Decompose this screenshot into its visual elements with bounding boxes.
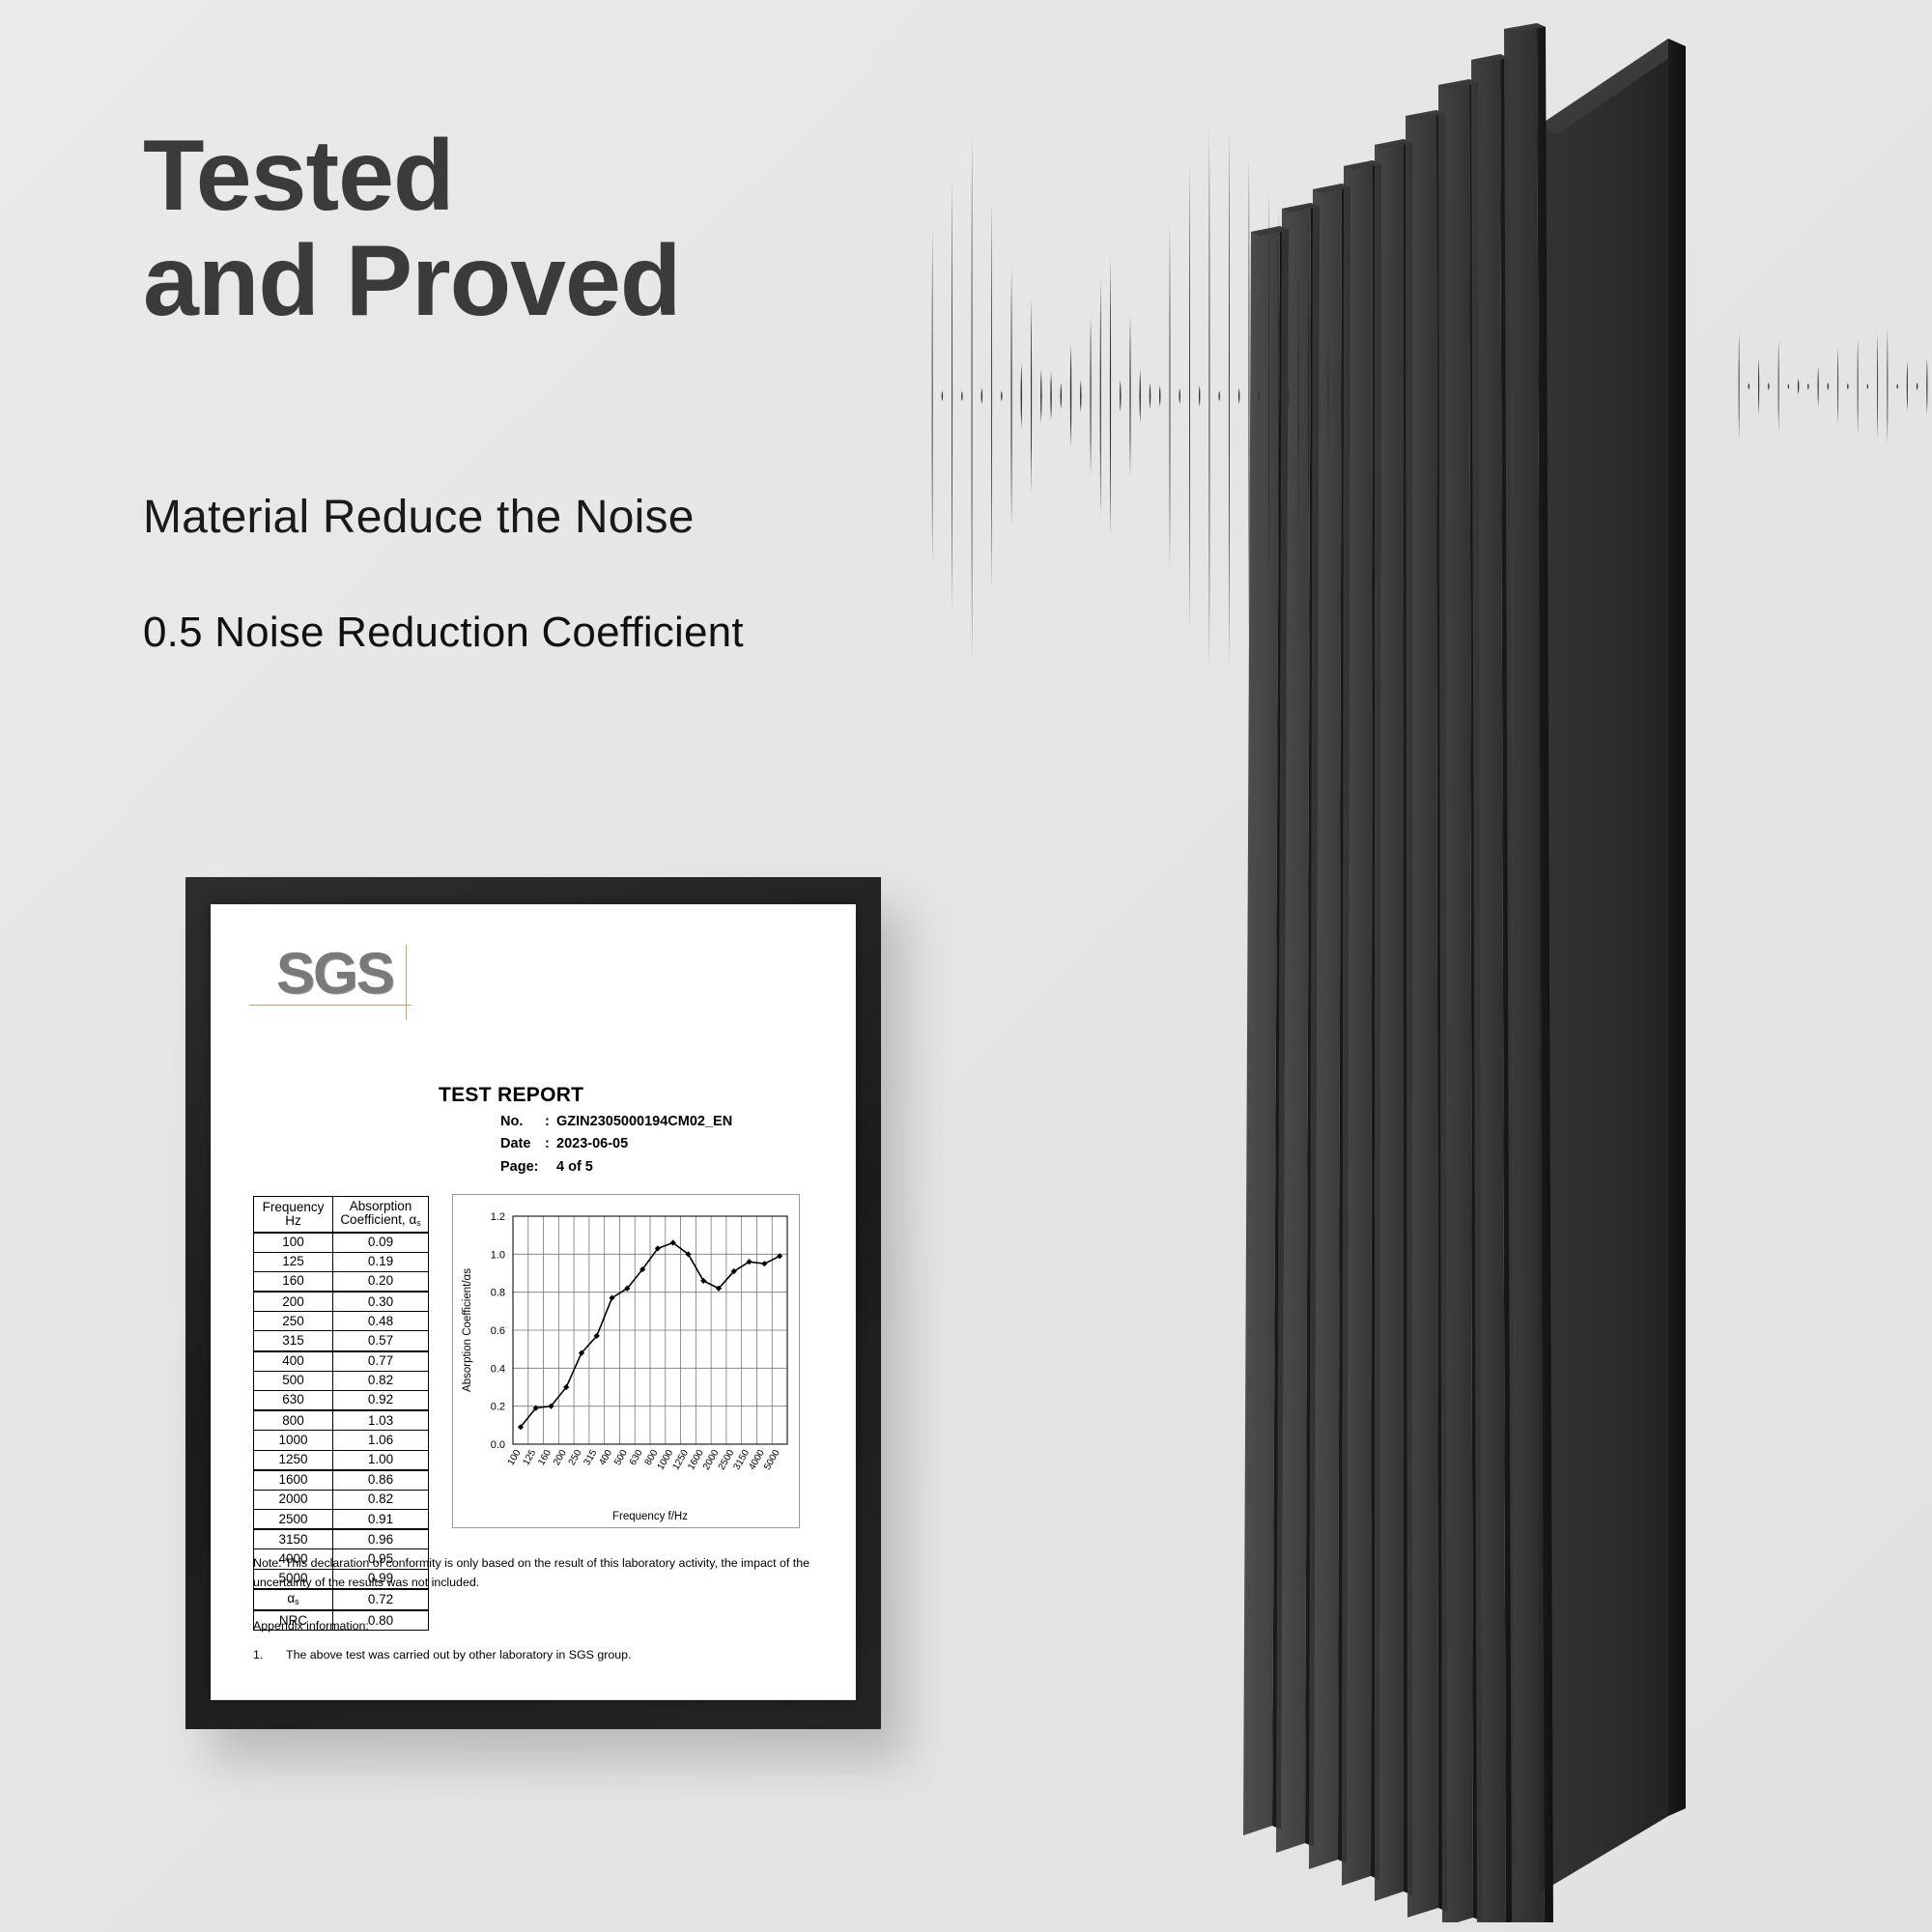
report-meta-value: GZIN2305000194CM02_EN bbox=[556, 1114, 732, 1129]
appendix-item-text: The above test was carried out by other … bbox=[286, 1648, 631, 1662]
table-cell-absorption: 0.09 bbox=[333, 1233, 429, 1253]
sound-wave-bar bbox=[981, 388, 983, 405]
table-row: 1250.19 bbox=[254, 1252, 429, 1271]
chart-ytick-label: 0.8 bbox=[491, 1288, 505, 1299]
table-row: 6300.92 bbox=[254, 1390, 429, 1410]
poster-canvas: Tested and Proved Material Reduce the No… bbox=[0, 0, 1932, 1932]
report-meta-row: Page:4 of 5 bbox=[500, 1156, 732, 1179]
slat-face bbox=[1342, 160, 1373, 1886]
chart-xtick-label: 160 bbox=[536, 1448, 554, 1467]
sound-wave-bar bbox=[1010, 267, 1011, 526]
report-title: TEST REPORT bbox=[439, 1084, 583, 1107]
table-cell-absorption: 0.96 bbox=[333, 1529, 429, 1549]
chart-yaxis-title: Absorption Coefficient/αs bbox=[462, 1268, 473, 1392]
sound-wave-bar bbox=[1040, 369, 1042, 423]
table-cell-absorption: 0.77 bbox=[333, 1351, 429, 1372]
table-cell-absorption: 0.82 bbox=[333, 1490, 429, 1509]
slat-panel-backboard bbox=[1539, 39, 1668, 1893]
chart-ytick-label: 0.4 bbox=[491, 1363, 505, 1375]
absorption-chart: 0.00.20.40.60.81.01.21001251602002503154… bbox=[452, 1194, 800, 1528]
chart-ytick-label: 1.0 bbox=[491, 1249, 505, 1261]
table-cell-absorption: 0.91 bbox=[333, 1510, 429, 1530]
sound-wave-bar bbox=[1208, 128, 1209, 664]
sound-wave-bar bbox=[961, 390, 963, 401]
report-meta-row: Date:2023-06-05 bbox=[500, 1133, 732, 1155]
report-meta-label: Date bbox=[500, 1133, 545, 1155]
report-meta-row: No.:GZIN2305000194CM02_EN bbox=[500, 1111, 732, 1133]
sound-wave-bar bbox=[942, 390, 944, 401]
sound-wave-bar bbox=[1179, 388, 1180, 405]
sound-wave-bar bbox=[1229, 126, 1230, 667]
table-row: 31500.96 bbox=[254, 1529, 429, 1549]
chart-xtick-label: 100 bbox=[506, 1448, 524, 1467]
slat-panel-backboard-side bbox=[1668, 39, 1686, 1816]
table-cell-absorption: 0.19 bbox=[333, 1252, 429, 1271]
sound-wave-bar bbox=[1150, 383, 1151, 410]
sound-wave-bar bbox=[991, 201, 992, 590]
sound-wave-bar bbox=[1120, 380, 1122, 412]
appendix-title: Appendix information: bbox=[253, 1617, 842, 1636]
chart-xtick-label: 315 bbox=[582, 1448, 600, 1467]
table-header-frequency: Frequency Hz bbox=[254, 1197, 333, 1233]
chart-data-point bbox=[700, 1278, 706, 1284]
sound-wave-bar bbox=[1050, 372, 1052, 420]
table-row: 16000.86 bbox=[254, 1470, 429, 1491]
sound-wave-bar bbox=[1129, 315, 1130, 477]
appendix-block: Appendix information: 1.The above test w… bbox=[253, 1617, 842, 1665]
sound-wave-bar bbox=[1189, 163, 1190, 629]
table-row: 20000.82 bbox=[254, 1490, 429, 1509]
sgs-logo-text: SGS bbox=[276, 945, 421, 1003]
report-meta-separator: : bbox=[545, 1133, 556, 1155]
nrc-claim-text: 0.5 Noise Reduction Coefficient bbox=[143, 609, 744, 657]
certificate-page: SGS TEST REPORT No.:GZIN2305000194CM02_E… bbox=[211, 904, 856, 1700]
sgs-logo-rule-vertical bbox=[406, 945, 407, 1020]
table-row: 12501.00 bbox=[254, 1450, 429, 1470]
table-cell-frequency: 250 bbox=[254, 1312, 333, 1331]
table-header-absorption: Absorption Coefficient, αs bbox=[333, 1197, 429, 1233]
table-cell-frequency: 100 bbox=[254, 1233, 333, 1253]
table-cell-frequency: 1000 bbox=[254, 1431, 333, 1450]
subtitle-text: Material Reduce the Noise bbox=[143, 491, 695, 544]
sound-wave-bar bbox=[1100, 277, 1101, 515]
table-row: 3150.57 bbox=[254, 1331, 429, 1351]
slat-face bbox=[1406, 110, 1438, 1918]
table-cell-absorption: 1.06 bbox=[333, 1431, 429, 1450]
headline-line-1: Tested bbox=[143, 120, 454, 232]
table-cell-frequency: 800 bbox=[254, 1410, 333, 1431]
slat-face bbox=[1309, 184, 1342, 1869]
chart-xtick-label: 400 bbox=[597, 1448, 614, 1467]
acoustic-slat-panel bbox=[1232, 0, 1932, 1922]
table-cell-absorption: 1.00 bbox=[333, 1450, 429, 1470]
chart-ytick-label: 0.0 bbox=[491, 1439, 505, 1451]
table-cell-frequency: 2000 bbox=[254, 1490, 333, 1509]
slat-panel-slat bbox=[1504, 23, 1553, 1922]
chart-xtick-label: 250 bbox=[567, 1448, 584, 1467]
table-cell-frequency: 400 bbox=[254, 1351, 333, 1372]
sound-wave-bar bbox=[952, 180, 952, 612]
slat-face bbox=[1471, 54, 1506, 1922]
sound-wave-bar bbox=[972, 133, 973, 658]
sgs-logo-rule-horizontal bbox=[249, 1005, 412, 1006]
report-meta-separator: : bbox=[545, 1111, 556, 1133]
table-cell-frequency: 1600 bbox=[254, 1470, 333, 1491]
report-meta-label: Page: bbox=[500, 1156, 545, 1179]
sound-wave-bar bbox=[1110, 255, 1111, 536]
sound-wave-bar bbox=[932, 228, 933, 563]
table-cell-frequency: 500 bbox=[254, 1371, 333, 1390]
table-cell-frequency: 200 bbox=[254, 1292, 333, 1312]
sound-wave-bar bbox=[1159, 385, 1161, 407]
chart-xtick-label: 200 bbox=[552, 1448, 569, 1467]
table-row: 2500.48 bbox=[254, 1312, 429, 1331]
table-row: 1000.09 bbox=[254, 1233, 429, 1253]
table-cell-frequency: 160 bbox=[254, 1271, 333, 1292]
table-row: 5000.82 bbox=[254, 1371, 429, 1390]
table-row: 4000.77 bbox=[254, 1351, 429, 1372]
chart-ytick-label: 1.2 bbox=[491, 1211, 505, 1223]
table-cell-absorption: 0.20 bbox=[333, 1271, 429, 1292]
chart-ytick-label: 0.6 bbox=[491, 1325, 505, 1337]
report-meta-value: 4 of 5 bbox=[556, 1159, 593, 1175]
table-cell-absorption: 0.82 bbox=[333, 1371, 429, 1390]
slat-face bbox=[1276, 203, 1311, 1853]
table-row: 1600.20 bbox=[254, 1271, 429, 1292]
chart-xaxis-title: Frequency f/Hz bbox=[612, 1511, 688, 1522]
sound-wave-bar bbox=[1021, 363, 1023, 428]
table-cell-frequency: 3150 bbox=[254, 1529, 333, 1549]
chart-ytick-label: 0.2 bbox=[491, 1402, 505, 1413]
page-title: Tested and Proved bbox=[143, 124, 680, 334]
sound-wave-bar bbox=[1031, 298, 1032, 494]
sound-wave-bar bbox=[1001, 390, 1003, 401]
table-cell-absorption: 0.86 bbox=[333, 1470, 429, 1491]
slat-face bbox=[1375, 139, 1404, 1901]
table-row: 2000.30 bbox=[254, 1292, 429, 1312]
table-row: 8001.03 bbox=[254, 1410, 429, 1431]
table-cell-absorption: 0.30 bbox=[333, 1292, 429, 1312]
chart-xtick-label: 125 bbox=[521, 1448, 538, 1467]
sound-wave-bar bbox=[1199, 385, 1201, 407]
table-cell-absorption: 0.48 bbox=[333, 1312, 429, 1331]
slat-face bbox=[1438, 79, 1473, 1922]
report-meta: No.:GZIN2305000194CM02_ENDate:2023-06-05… bbox=[500, 1111, 732, 1179]
table-cell-frequency: 630 bbox=[254, 1390, 333, 1410]
appendix-item: 1.The above test was carried out by othe… bbox=[253, 1646, 842, 1665]
table-cell-frequency: 1250 bbox=[254, 1450, 333, 1470]
chart-xtick-label: 5000 bbox=[762, 1448, 782, 1472]
table-cell-absorption: 0.57 bbox=[333, 1331, 429, 1351]
table-cell-absorption: 0.92 bbox=[333, 1390, 429, 1410]
sound-wave-bar bbox=[1139, 369, 1141, 423]
sound-wave-bar bbox=[1080, 380, 1082, 412]
chart-xtick-label: 500 bbox=[612, 1448, 630, 1467]
table-cell-absorption: 1.03 bbox=[333, 1410, 429, 1431]
appendix-item-number: 1. bbox=[253, 1646, 286, 1665]
table-cell-frequency: 2500 bbox=[254, 1510, 333, 1530]
chart-data-point bbox=[761, 1261, 767, 1266]
table-row: 25000.91 bbox=[254, 1510, 429, 1530]
table-cell-frequency: 125 bbox=[254, 1252, 333, 1271]
sound-wave-bar bbox=[1061, 383, 1063, 410]
sound-wave-bar bbox=[1070, 345, 1072, 447]
sgs-logo: SGS bbox=[276, 945, 421, 1016]
report-meta-value: 2023-06-05 bbox=[556, 1136, 628, 1151]
sound-wave-bar bbox=[1170, 223, 1171, 569]
conformity-note: Note: This declaration of conformity is … bbox=[253, 1553, 842, 1592]
table-cell-frequency: 315 bbox=[254, 1331, 333, 1351]
report-meta-label: No. bbox=[500, 1111, 545, 1133]
headline-line-2: and Proved bbox=[143, 229, 680, 334]
framed-certificate: SGS TEST REPORT No.:GZIN2305000194CM02_E… bbox=[185, 877, 881, 1729]
sound-wave-bar bbox=[1218, 390, 1220, 401]
table-row: 10001.06 bbox=[254, 1431, 429, 1450]
chart-xtick-label: 630 bbox=[628, 1448, 645, 1467]
sound-wave-bar bbox=[1090, 315, 1091, 477]
